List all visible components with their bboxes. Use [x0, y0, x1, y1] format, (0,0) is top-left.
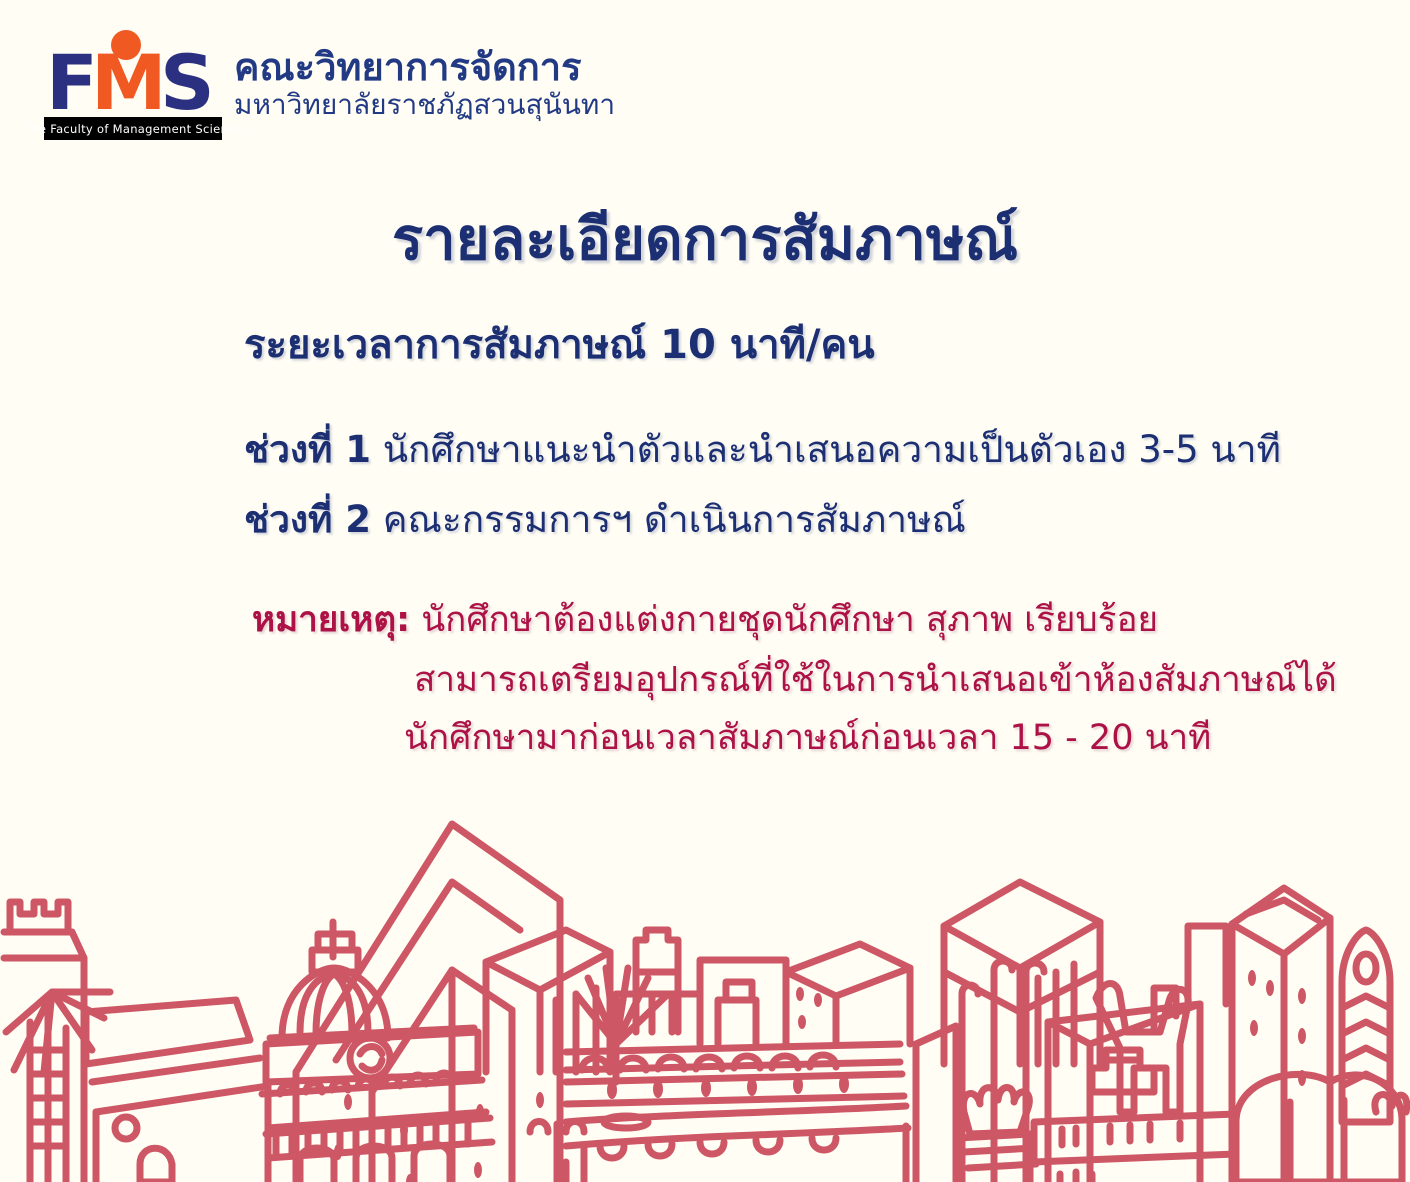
- phase-1-description: นักศึกษาแนะนำตัวและนำเสนอความเป็นตัวเอง …: [371, 428, 1281, 471]
- brand-thai-names: คณะวิทยาการจัดการ มหาวิทยาลัยราชภัฏสวนสุ…: [234, 24, 615, 122]
- note-line-1-text: นักศึกษาต้องแต่งกายชุดนักศึกษา สุภาพ เรี…: [410, 600, 1158, 640]
- poster-canvas: F M S The Faculty of Management Science …: [0, 0, 1410, 1182]
- brand-header: F M S The Faculty of Management Science …: [44, 24, 615, 142]
- city-skyline-illustration: [0, 782, 1410, 1182]
- phase-1-label: ช่วงที่ 1: [244, 428, 371, 471]
- note-label: หมายเหตุ:: [252, 600, 410, 640]
- university-name-th: มหาวิทยาลัยราชภัฏสวนสุนันทา: [234, 88, 615, 122]
- note-line-1: หมายเหตุ: นักศึกษาต้องแต่งกายชุดนักศึกษา…: [252, 592, 1158, 647]
- logo-letter-m: M: [91, 50, 162, 116]
- phase-2-label: ช่วงที่ 2: [244, 498, 371, 541]
- logo-letters: F M S: [44, 50, 222, 116]
- note-line-3: นักศึกษามาก่อนเวลาสัมภาษณ์ก่อนเวลา 15 - …: [404, 710, 1211, 765]
- logo-tagline-bar: The Faculty of Management Science: [44, 117, 222, 140]
- logo-letter-s: S: [160, 50, 211, 116]
- phase-1-line: ช่วงที่ 1 นักศึกษาแนะนำตัวและนำเสนอความเ…: [244, 420, 1281, 479]
- logo-tagline-text: The Faculty of Management Science: [24, 122, 242, 136]
- note-line-2: สามารถเตรียมอุปกรณ์ที่ใช้ในการนำเสนอเข้า…: [414, 652, 1337, 707]
- phase-2-line: ช่วงที่ 2 คณะกรรมการฯ ดำเนินการสัมภาษณ์: [244, 490, 966, 549]
- interview-duration-line: ระยะเวลาการสัมภาษณ์ 10 นาที/คน: [244, 312, 875, 376]
- fms-logo: F M S The Faculty of Management Science: [44, 24, 222, 142]
- page-title: รายละเอียดการสัมภาษณ์: [0, 192, 1410, 285]
- logo-letter-f: F: [46, 50, 94, 116]
- phase-2-description: คณะกรรมการฯ ดำเนินการสัมภาษณ์: [371, 498, 966, 541]
- faculty-name-th: คณะวิทยาการจัดการ: [234, 46, 615, 88]
